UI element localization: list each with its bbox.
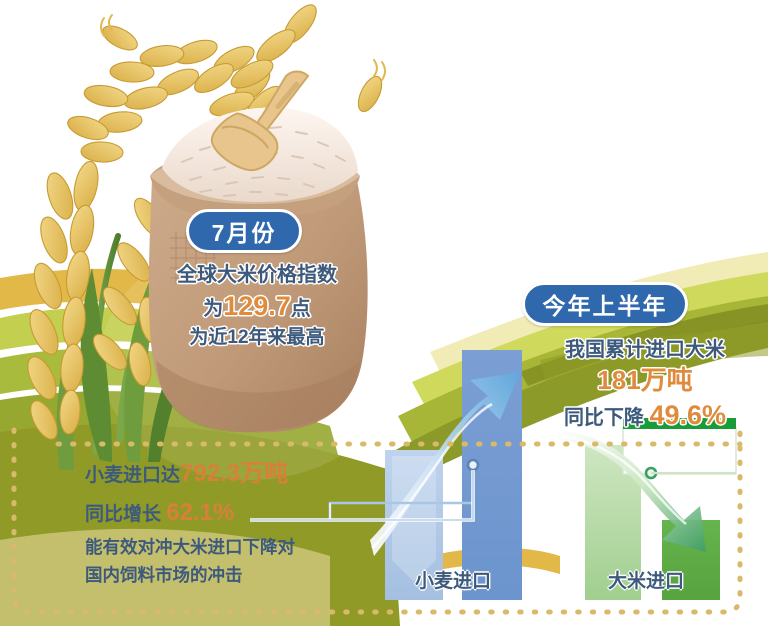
global-rice-index-label: 全球大米价格指数 [132, 262, 382, 288]
global-rice-index-value: 为129.7点 [132, 289, 382, 324]
rice-import-value: 181万吨 [525, 364, 765, 397]
badge-month: 7月份 [186, 209, 302, 253]
rice-import-label: 我国累计进口大米 [525, 338, 765, 363]
rice-import-change-value: 49.6% [650, 400, 727, 430]
bar-label-rice: 大米进口 [608, 566, 684, 593]
rice-import-panel: 我国累计进口大米 181万吨 同比下降 49.6% [525, 338, 765, 432]
badge-half-year: 今年上半年 [522, 282, 688, 326]
infographic-canvas: 7月份 今年上半年 全球大米价格指数 为129.7点 为近12年来最高 我国累计… [0, 0, 768, 626]
wheat-import-change-value: 62.1% [166, 499, 234, 526]
badge-month-label: 7月份 [212, 214, 277, 248]
badge-half-year-label: 今年上半年 [543, 287, 668, 321]
wheat-import-total: 小麦进口达792.3万吨 [85, 455, 385, 494]
rice-import-change: 同比下降 49.6% [525, 398, 765, 432]
wheat-import-total-value: 792.3万吨 [180, 460, 288, 487]
wheat-import-note-1: 能有效对冲大米进口下降对 [85, 533, 385, 561]
wheat-import-panel: 小麦进口达792.3万吨 同比增长 62.1% 能有效对冲大米进口下降对 国内饲… [85, 455, 385, 589]
index-number: 129.7 [223, 291, 291, 321]
sack-stat-panel: 全球大米价格指数 为129.7点 为近12年来最高 [132, 262, 382, 351]
wheat-import-change: 同比增长 62.1% [85, 494, 385, 533]
wheat-import-note-2: 国内饲料市场的冲击 [85, 561, 385, 589]
global-rice-index-note: 为近12年来最高 [132, 326, 382, 351]
bar-label-wheat: 小麦进口 [415, 566, 491, 593]
